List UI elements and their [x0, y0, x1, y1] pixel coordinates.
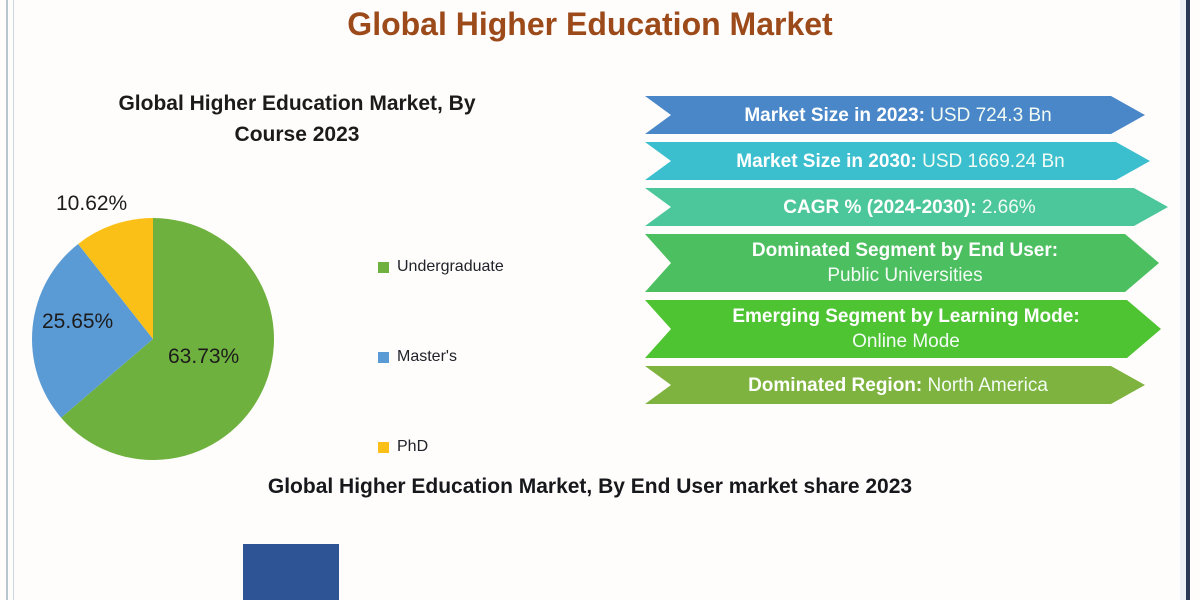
- legend-item-undergraduate[interactable]: Undergraduate: [378, 222, 568, 312]
- legend-swatch-icon: [378, 352, 389, 363]
- highlight-banner-market-size-in-2023[interactable]: Market Size in 2023: USD 724.3 Bn: [645, 96, 1145, 134]
- pie-chart-title-line1: Global Higher Education Market, By: [118, 92, 475, 115]
- highlight-banner-value: North America: [922, 375, 1048, 396]
- legend-item-master-s[interactable]: Master's: [378, 312, 568, 402]
- highlight-banner-text: Market Size in 2030: USD 1669.24 Bn: [736, 149, 1064, 174]
- pie-chart-title: Global Higher Education Market, By Cours…: [62, 88, 532, 150]
- key-highlights-banner-stack: Market Size in 2023: USD 724.3 BnMarket …: [645, 96, 1175, 412]
- highlight-banner-label: Market Size in 2023:: [744, 105, 925, 126]
- highlight-banner-text: CAGR % (2024-2030): 2.66%: [783, 195, 1035, 220]
- pie-slice-label-phd: 10.62%: [56, 192, 127, 216]
- left-border-line-inner: [13, 0, 14, 600]
- pie-slice-label-masters: 25.65%: [42, 310, 113, 334]
- highlight-banner-market-size-in-2030[interactable]: Market Size in 2030: USD 1669.24 Bn: [645, 142, 1150, 180]
- legend-swatch-icon: [378, 442, 389, 453]
- highlight-banner-value: USD 1669.24 Bn: [917, 151, 1065, 172]
- pie-chart-legend: UndergraduateMaster'sPhD: [378, 222, 568, 492]
- left-border-line-outer: [6, 0, 8, 600]
- legend-item-label: Master's: [397, 348, 457, 366]
- highlight-banner-emerging-segment-by-learning-mode[interactable]: Emerging Segment by Learning Mode:Online…: [645, 300, 1161, 358]
- highlight-banner-label: Dominated Segment by End User:: [752, 240, 1058, 261]
- pie-chart: [30, 216, 276, 462]
- highlight-banner-label: Market Size in 2030:: [736, 151, 917, 172]
- highlight-banner-cagr-2024-2030[interactable]: CAGR % (2024-2030): 2.66%: [645, 188, 1168, 226]
- legend-item-label: PhD: [397, 438, 428, 456]
- right-border-line: [1186, 0, 1190, 600]
- pie-slice-label-undergraduate: 63.73%: [168, 345, 239, 369]
- highlight-banner-value: Public Universities: [752, 263, 1058, 288]
- bar-chart-title: Global Higher Education Market, By End U…: [0, 475, 1180, 499]
- bar-chart-bar: [243, 544, 339, 600]
- pie-chart-title-line2: Course 2023: [235, 123, 360, 146]
- highlight-banner-dominated-region[interactable]: Dominated Region: North America: [645, 366, 1145, 404]
- highlight-banner-text: Market Size in 2023: USD 724.3 Bn: [744, 103, 1051, 128]
- highlight-banner-label: Dominated Region:: [748, 375, 922, 396]
- highlight-banner-dominated-segment-by-end-user[interactable]: Dominated Segment by End User:Public Uni…: [645, 234, 1159, 292]
- highlight-banner-label: CAGR % (2024-2030):: [783, 197, 976, 218]
- highlight-banner-value: USD 724.3 Bn: [925, 105, 1052, 126]
- infographic-page: Global Higher Education Market Global Hi…: [0, 0, 1200, 600]
- page-title: Global Higher Education Market: [0, 6, 1180, 43]
- highlight-banner-text: Emerging Segment by Learning Mode:Online…: [732, 304, 1079, 354]
- pie-chart-svg: [30, 216, 276, 462]
- legend-swatch-icon: [378, 262, 389, 273]
- highlight-banner-label: Emerging Segment by Learning Mode:: [732, 306, 1079, 327]
- highlight-banner-value: Online Mode: [732, 329, 1079, 354]
- legend-item-label: Undergraduate: [397, 258, 504, 276]
- highlight-banner-text: Dominated Region: North America: [748, 373, 1048, 398]
- highlight-banner-text: Dominated Segment by End User:Public Uni…: [752, 238, 1058, 288]
- highlight-banner-value: 2.66%: [977, 197, 1036, 218]
